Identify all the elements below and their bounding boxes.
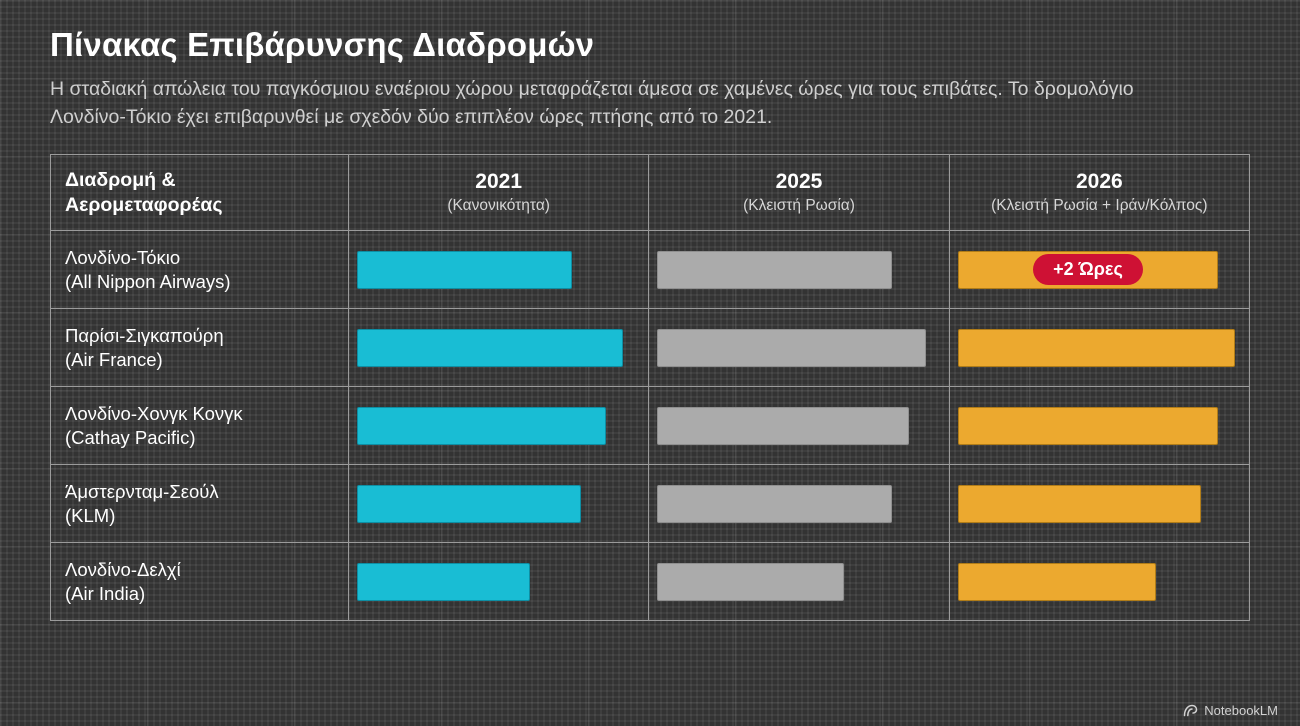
route-name: Λονδίνο-Δελχί (65, 558, 336, 582)
bar-2025 (657, 563, 844, 601)
route-label-cell: Παρίσι-Σιγκαπούρη(Air France) (51, 309, 349, 387)
bar-cell-2026 (949, 309, 1249, 387)
bar-cell-2026 (949, 465, 1249, 543)
bar-2025 (657, 251, 892, 289)
bar-cell-2026: +2 Ώρες (949, 231, 1249, 309)
table-header: Διαδρομή & Αερομεταφορέας 2021 (Κανονικό… (51, 155, 1250, 231)
content-area: Πίνακας Επιβάρυνσης Διαδρομών Η σταδιακή… (0, 0, 1300, 621)
route-carrier: (KLM) (65, 504, 336, 528)
bar-cell-2021 (349, 387, 649, 465)
table-row: Άμστερνταμ-Σεούλ(KLM) (51, 465, 1250, 543)
column-header-2025-sub: (Κλειστή Ρωσία) (659, 196, 938, 216)
column-header-route-line1: Διαδρομή & (65, 169, 176, 191)
route-label-cell: Άμστερνταμ-Σεούλ(KLM) (51, 465, 349, 543)
table-row: Λονδίνο-Χονγκ Κονγκ(Cathay Pacific) (51, 387, 1250, 465)
bar-cell-2021 (349, 543, 649, 621)
bar-2026 (958, 563, 1156, 601)
delay-badge: +2 Ώρες (1033, 254, 1143, 285)
route-label-cell: Λονδίνο-Τόκιο(All Nippon Airways) (51, 231, 349, 309)
route-burden-table: Διαδρομή & Αερομεταφορέας 2021 (Κανονικό… (50, 154, 1250, 621)
bar-2026: +2 Ώρες (958, 251, 1219, 289)
bar-2021 (357, 563, 530, 601)
bar-cell-2025 (649, 387, 949, 465)
route-name: Άμστερνταμ-Σεούλ (65, 480, 336, 504)
bar-2025 (657, 485, 892, 523)
column-header-2021-sub: (Κανονικότητα) (359, 196, 638, 216)
column-header-2026-sub: (Κλειστή Ρωσία + Ιράν/Κόλπος) (960, 196, 1239, 216)
route-carrier: (Air France) (65, 348, 336, 372)
table-row: Λονδίνο-Τόκιο(All Nippon Airways)+2 Ώρες (51, 231, 1250, 309)
bar-2026 (958, 407, 1219, 445)
bar-2025 (657, 329, 926, 367)
bar-cell-2025 (649, 543, 949, 621)
bar-cell-2021 (349, 231, 649, 309)
footer-brand: NotebookLM (1183, 703, 1278, 718)
header-row: Διαδρομή & Αερομεταφορέας 2021 (Κανονικό… (51, 155, 1250, 231)
bar-2026 (958, 485, 1202, 523)
column-header-route-line2: Αερομεταφορέας (65, 194, 223, 216)
bar-cell-2021 (349, 465, 649, 543)
column-header-2026: 2026 (Κλειστή Ρωσία + Ιράν/Κόλπος) (949, 155, 1249, 231)
infographic-page: Πίνακας Επιβάρυνσης Διαδρομών Η σταδιακή… (0, 0, 1300, 726)
column-header-2026-year: 2026 (960, 169, 1239, 194)
bar-cell-2026 (949, 387, 1249, 465)
bar-cell-2025 (649, 309, 949, 387)
table-row: Παρίσι-Σιγκαπούρη(Air France) (51, 309, 1250, 387)
bar-2021 (357, 407, 606, 445)
bar-cell-2021 (349, 309, 649, 387)
route-carrier: (Air India) (65, 582, 336, 606)
table-row: Λονδίνο-Δελχί(Air India) (51, 543, 1250, 621)
page-subtitle: Η σταδιακή απώλεια του παγκόσμιου εναέρι… (50, 75, 1200, 131)
bar-cell-2025 (649, 231, 949, 309)
route-label-cell: Λονδίνο-Δελχί(Air India) (51, 543, 349, 621)
route-name: Λονδίνο-Τόκιο (65, 246, 336, 270)
column-header-2021-year: 2021 (359, 169, 638, 194)
route-label-cell: Λονδίνο-Χονγκ Κονγκ(Cathay Pacific) (51, 387, 349, 465)
bar-2026 (958, 329, 1236, 367)
table-body: Λονδίνο-Τόκιο(All Nippon Airways)+2 Ώρες… (51, 231, 1250, 621)
footer-brand-label: NotebookLM (1204, 703, 1278, 718)
column-header-2025: 2025 (Κλειστή Ρωσία) (649, 155, 949, 231)
bar-2025 (657, 407, 909, 445)
route-name: Παρίσι-Σιγκαπούρη (65, 324, 336, 348)
route-carrier: (Cathay Pacific) (65, 426, 336, 450)
route-name: Λονδίνο-Χονγκ Κονγκ (65, 402, 336, 426)
bar-cell-2025 (649, 465, 949, 543)
route-carrier: (All Nippon Airways) (65, 270, 336, 294)
bar-2021 (357, 485, 581, 523)
bar-2021 (357, 251, 572, 289)
column-header-2021: 2021 (Κανονικότητα) (349, 155, 649, 231)
bar-cell-2026 (949, 543, 1249, 621)
column-header-2025-year: 2025 (659, 169, 938, 194)
notebooklm-icon (1183, 704, 1198, 717)
column-header-route: Διαδρομή & Αερομεταφορέας (51, 155, 349, 231)
bar-2021 (357, 329, 623, 367)
page-title: Πίνακας Επιβάρυνσης Διαδρομών (50, 26, 1250, 64)
